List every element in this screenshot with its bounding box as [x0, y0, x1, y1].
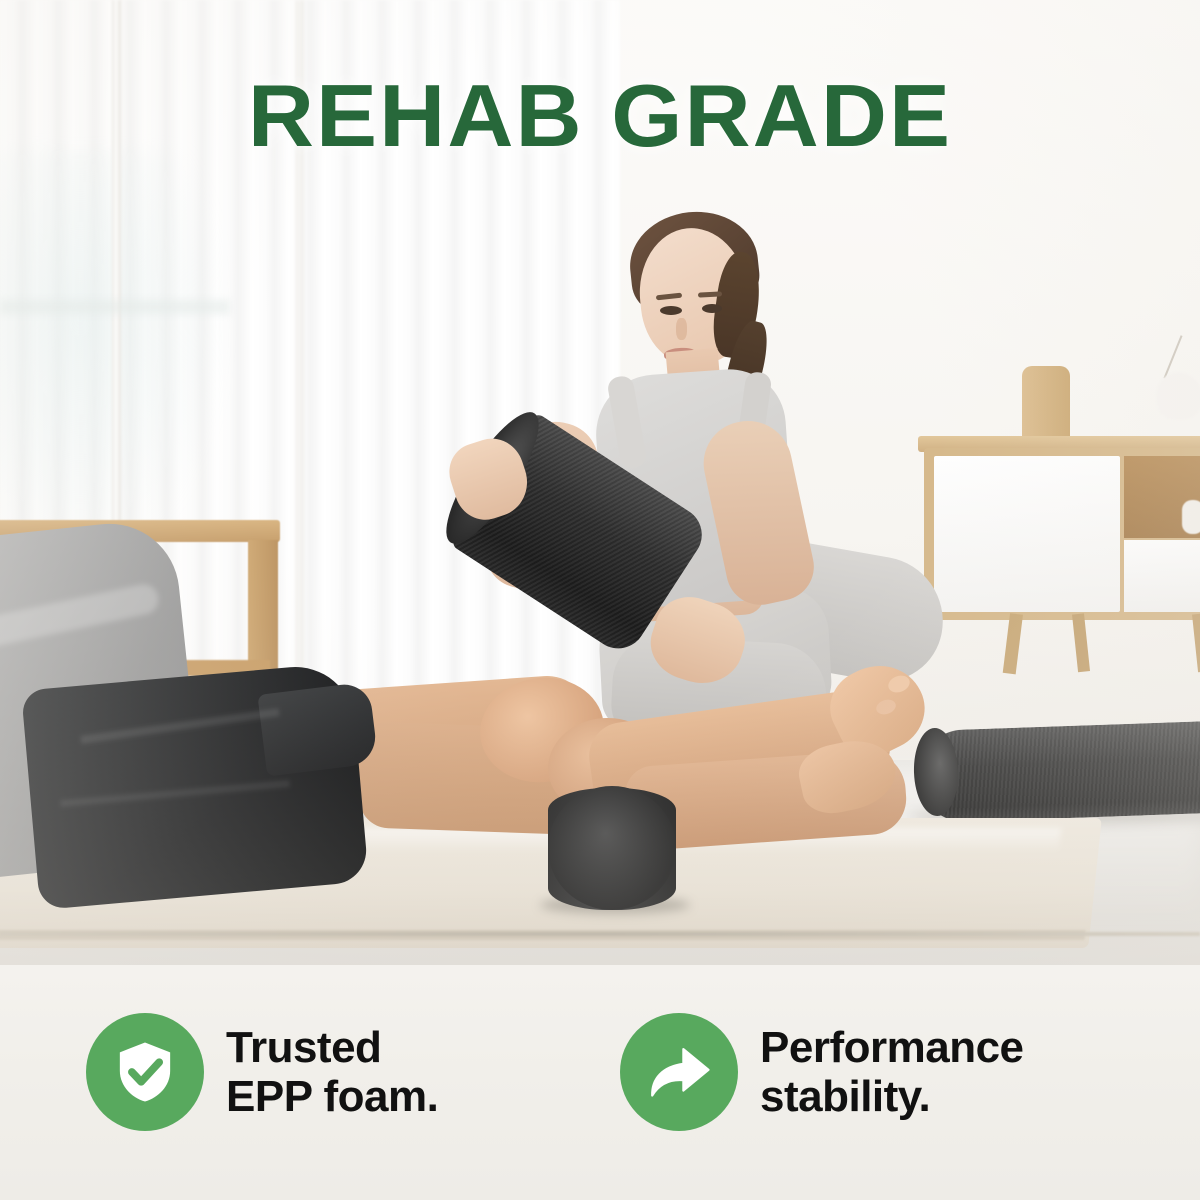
window-sill [0, 300, 230, 314]
woman-nose [676, 318, 687, 340]
foam-roller-legs-end-cap [548, 786, 676, 910]
feature-item-performance-stability: Performance stability. [620, 1013, 1024, 1131]
decor-object [1182, 500, 1200, 534]
sideboard-riser [1022, 366, 1070, 442]
feature-badge-2 [620, 1013, 738, 1131]
sideboard-door-left [934, 456, 1120, 612]
feature-label-1: Trusted EPP foam. [226, 1023, 438, 1122]
sideboard-door-right [1124, 540, 1200, 612]
woman-eye-left [660, 306, 682, 315]
woman-eye-right [702, 304, 722, 313]
yoga-mat-lower-edge [0, 932, 1200, 936]
page-title: REHAB GRADE [0, 72, 1200, 160]
feature-item-trusted-epp-foam: Trusted EPP foam. [86, 1013, 438, 1131]
feature-label-2: Performance stability. [760, 1023, 1024, 1122]
feature-band: Trusted EPP foam. Performance stability. [0, 965, 1200, 1200]
feature-badge-1 [86, 1013, 204, 1131]
foam-roller-on-floor [916, 721, 1200, 823]
shield-check-icon [110, 1037, 180, 1107]
product-infographic-poster: REHAB GRADE Trusted EPP foam. [0, 0, 1200, 1200]
curved-arrow-icon [644, 1037, 714, 1107]
man-shorts-hem [257, 681, 378, 776]
decor-vase [1156, 372, 1200, 420]
